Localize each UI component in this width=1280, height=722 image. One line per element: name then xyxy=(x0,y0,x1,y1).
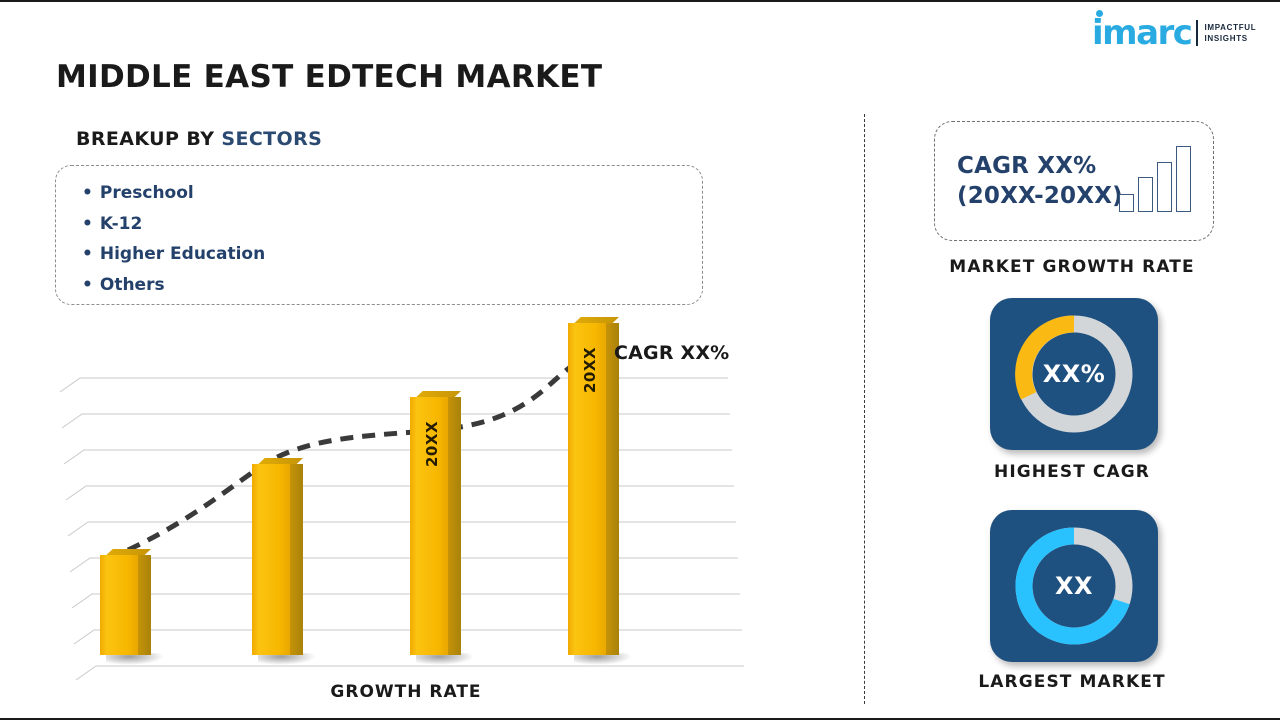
breakup-heading: BREAKUP BY SECTORS xyxy=(76,128,322,150)
largest-market-tile: XX xyxy=(990,510,1158,662)
bar-side-face xyxy=(606,323,619,655)
largest-market-value: XX xyxy=(990,510,1158,662)
highest-cagr-value: XX% xyxy=(990,298,1158,450)
chart-x-axis-label: GROWTH RATE xyxy=(56,682,756,702)
bullet-icon: • xyxy=(82,244,93,264)
page-title: MIDDLE EAST EDTECH MARKET xyxy=(56,59,602,95)
bar-value-label: 20XX xyxy=(423,429,441,467)
sector-label: Others xyxy=(100,275,165,295)
market-growth-rate-caption: MARKET GROWTH RATE xyxy=(864,257,1280,277)
bar-side-face xyxy=(138,555,151,655)
sectors-box: •Preschool •K-12 •Higher Education •Othe… xyxy=(55,165,703,305)
sector-label: K-12 xyxy=(100,214,142,234)
sector-label: Higher Education xyxy=(100,244,265,264)
bar-front-face xyxy=(252,464,290,655)
bar-side-face xyxy=(290,464,303,655)
cagr-text: CAGR XX% (20XX-20XX) xyxy=(957,151,1123,211)
largest-market-caption: LARGEST MARKET xyxy=(864,672,1280,692)
bar-chart-icon xyxy=(1119,146,1191,212)
breakup-prefix: BREAKUP BY xyxy=(76,128,221,150)
bar-value-label: 20XX xyxy=(581,355,599,393)
highest-cagr-caption: HIGHEST CAGR xyxy=(864,462,1280,482)
list-item: •Others xyxy=(82,270,702,301)
cagr-line2: (20XX-20XX) xyxy=(957,181,1123,211)
list-item: •Preschool xyxy=(82,178,702,209)
cagr-callout-box: CAGR XX% (20XX-20XX) xyxy=(934,121,1214,241)
breakup-highlight: SECTORS xyxy=(221,128,322,150)
sector-label: Preschool xyxy=(100,183,194,203)
cagr-annotation: CAGR XX% xyxy=(614,342,729,364)
list-item: •K-12 xyxy=(82,209,702,240)
bar-front-face xyxy=(100,555,138,655)
cagr-line1: CAGR XX% xyxy=(957,151,1123,181)
bar-side-face xyxy=(448,397,461,655)
bullet-icon: • xyxy=(82,183,93,203)
right-panel: CAGR XX% (20XX-20XX) MARKET GROWTH RATE … xyxy=(864,2,1280,722)
infographic-page: imarc IMPACTFUL INSIGHTS MIDDLE EAST EDT… xyxy=(0,0,1280,720)
bullet-icon: • xyxy=(82,275,93,295)
bullet-icon: • xyxy=(82,214,93,234)
growth-rate-bar-chart: 20XX 20XX CAGR XX% GROWTH RATE xyxy=(56,332,756,712)
cagr-trendline xyxy=(128,354,588,550)
highest-cagr-tile: XX% xyxy=(990,298,1158,450)
list-item: •Higher Education xyxy=(82,239,702,270)
